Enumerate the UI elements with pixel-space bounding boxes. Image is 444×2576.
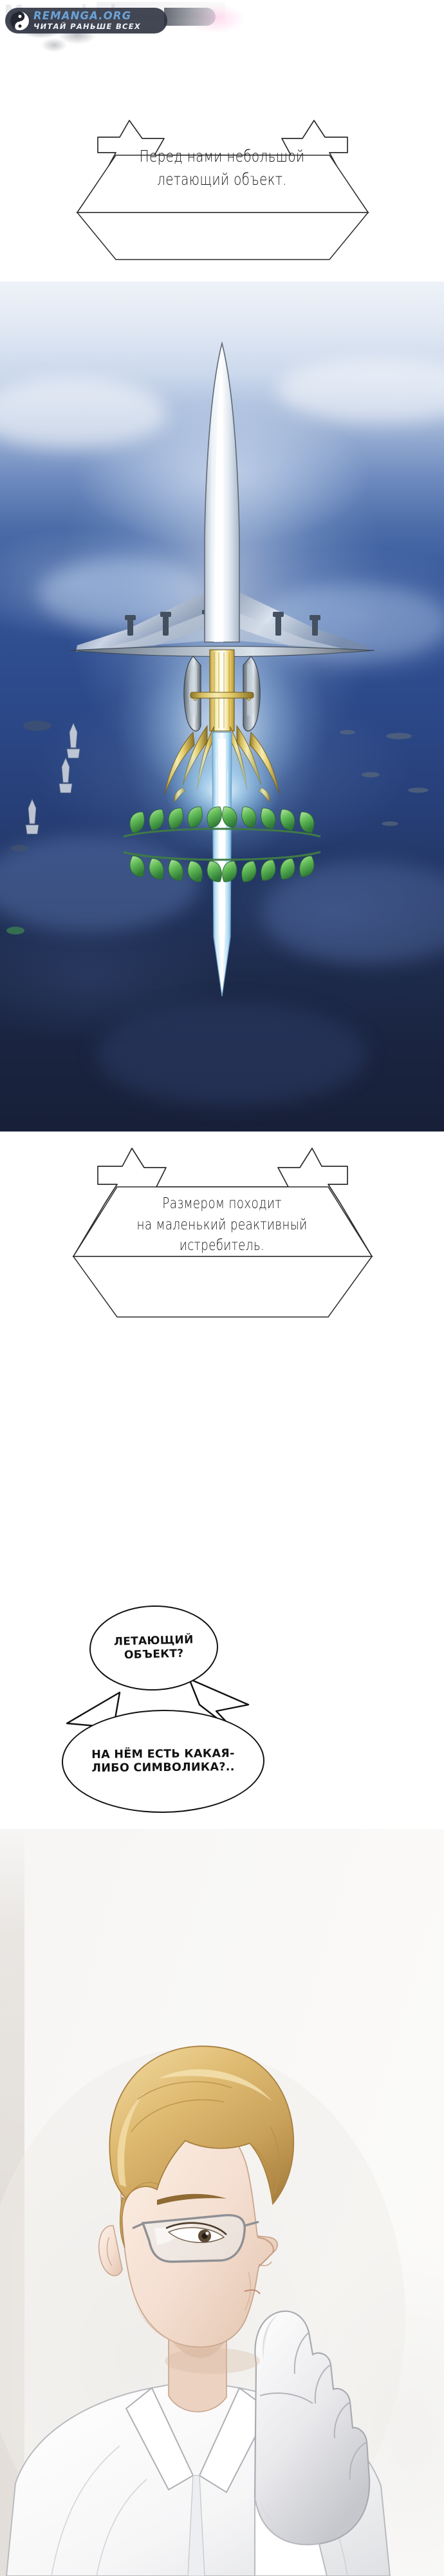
watermark-site-label: REMANGA.ORG <box>33 11 141 22</box>
art-panel-flying-object <box>0 281 444 1132</box>
hilt-gold-core <box>210 650 234 731</box>
caption-box-2: Размером походит на маленький реактивный… <box>0 1130 444 1343</box>
speech-bubble-1-text: ЛЕТАЮЩИЙ ОБЪЕКТ? <box>114 1634 194 1663</box>
caption-frame-1 <box>0 100 444 283</box>
yin-yang-dot-light <box>18 15 21 18</box>
caption-2-text: Размером походит на маленький реактивный… <box>44 1193 400 1256</box>
watermark-badge-tail <box>164 8 216 26</box>
speech-bubble-2: НА НЁМ ЕСТЬ КАКАЯ- ЛИБО СИМВОЛИКА?.. <box>61 1709 264 1814</box>
caption-1-text: Перед нами небольшой летающий объект. <box>44 145 400 191</box>
webtoon-page: Mangahub REMANGA.ORG ЧИТАЙ РАНЬШЕ ВСЕХ П… <box>0 0 444 2576</box>
watermark-slogan-label: ЧИТАЙ РАНЬШЕ ВСЕХ <box>33 23 141 31</box>
watermark-text-group: REMANGA.ORG ЧИТАЙ РАНЬШЕ ВСЕХ <box>33 11 141 31</box>
character-panel <box>0 1829 444 2576</box>
flying-sword-artifact <box>0 281 444 1132</box>
caption-box-1: Перед нами небольшой летающий объект. <box>0 100 444 283</box>
remanga-watermark-badge[interactable]: REMANGA.ORG ЧИТАЙ РАНЬШЕ ВСЕХ <box>5 8 167 33</box>
hilt-crossbar <box>190 692 254 698</box>
green-ship <box>6 927 24 934</box>
yin-yang-dot-dark <box>18 24 21 28</box>
character-illustration <box>0 1829 444 2576</box>
speech-bubble-2-text: НА НЁМ ЕСТЬ КАКАЯ- ЛИБО СИМВОЛИКА?.. <box>91 1747 235 1776</box>
yin-yang-icon <box>10 11 30 31</box>
watermark-band: Mangahub REMANGA.ORG ЧИТАЙ РАНЬШЕ ВСЕХ <box>0 0 444 71</box>
